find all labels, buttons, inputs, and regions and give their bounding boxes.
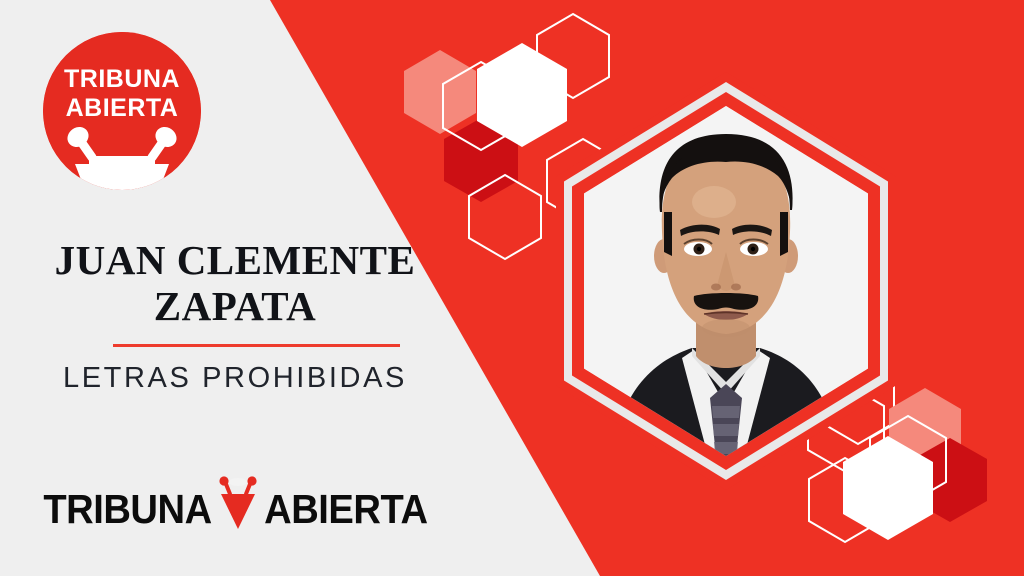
headline-line-2: ZAPATA [20,284,450,330]
page-title: JUAN CLEMENTE ZAPATA [0,238,470,330]
headline-line-1: JUAN CLEMENTE [55,237,416,283]
tribuna-abierta-circle-logo[interactable]: TRIBUNA ABIERTA [43,32,201,190]
wordmark-text-left: TRIBUNA [43,486,211,533]
tribuna-abierta-wordmark[interactable]: TRIBUNA ABIERTA [0,480,470,538]
poster-canvas: TRIBUNA ABIERTA JUAN CLEMENTE ZAPATA [0,0,1024,576]
left-content-column: TRIBUNA ABIERTA JUAN CLEMENTE ZAPATA [0,0,470,576]
wordmark-text-right: ABIERTA [264,486,427,533]
podium-microphones-v-icon [215,472,261,530]
podium-icon [75,156,169,190]
portrait-hexagon [556,72,896,490]
title-divider-rule [113,344,400,347]
badge-line2-text: ABIERTA [66,94,179,122]
subtitle: LETRAS PROHIBIDAS [0,362,470,395]
badge-line1-text: TRIBUNA [64,65,180,93]
